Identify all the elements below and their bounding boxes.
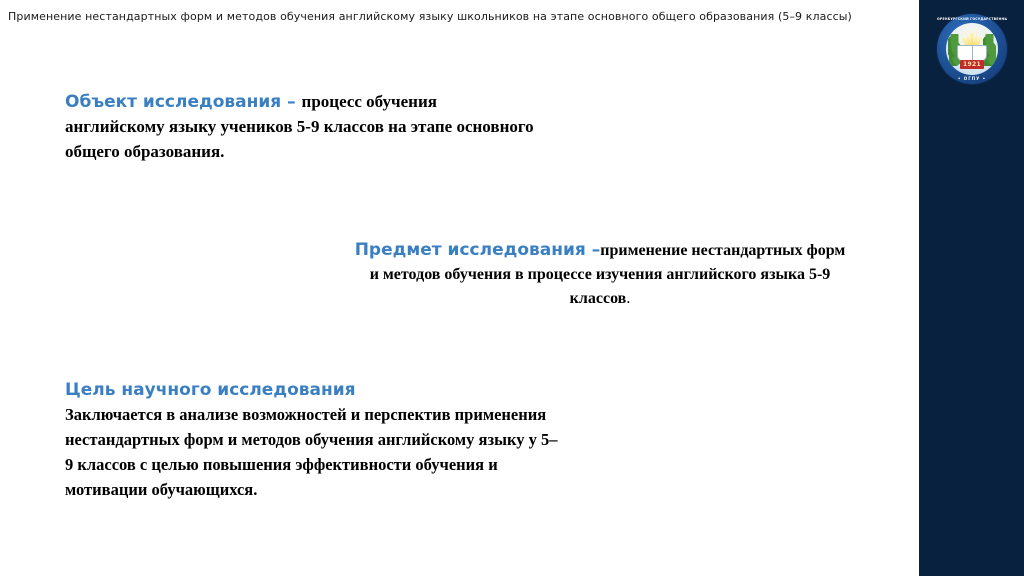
slide-title: Применение нестандартных форм и методов … — [8, 10, 908, 24]
emblem-ring-text-bottom: • ОГПУ • — [937, 76, 1007, 81]
object-of-research-block: Объект исследования – процесс обучения а… — [65, 90, 535, 165]
emblem-year-banner: 1921 — [960, 60, 984, 69]
emblem-inner-disc: 1921 — [946, 23, 998, 75]
goal-of-research-text: Заключается в анализе возможностей и пер… — [65, 405, 558, 499]
presentation-slide: Применение нестандартных форм и методов … — [0, 0, 1024, 576]
goal-of-research-block: Цель научного исследованияЗаключается в … — [65, 378, 565, 503]
subject-of-research-heading: Предмет исследования – — [355, 240, 601, 260]
object-of-research-heading: Объект исследования – — [65, 92, 302, 112]
subject-of-research-block: Предмет исследования –применение нестанд… — [352, 238, 848, 311]
goal-of-research-heading: Цель научного исследования — [65, 378, 565, 402]
emblem-ring-text-top: ОРЕНБУРГСКИЙ ГОСУДАРСТВЕННЫЙ ПЕДАГОГИЧЕС… — [937, 17, 1007, 21]
right-side-panel: ОРЕНБУРГСКИЙ ГОСУДАРСТВЕННЫЙ ПЕДАГОГИЧЕС… — [919, 0, 1024, 576]
subject-of-research-period: . — [626, 290, 630, 307]
university-emblem-icon: ОРЕНБУРГСКИЙ ГОСУДАРСТВЕННЫЙ ПЕДАГОГИЧЕС… — [937, 14, 1007, 84]
